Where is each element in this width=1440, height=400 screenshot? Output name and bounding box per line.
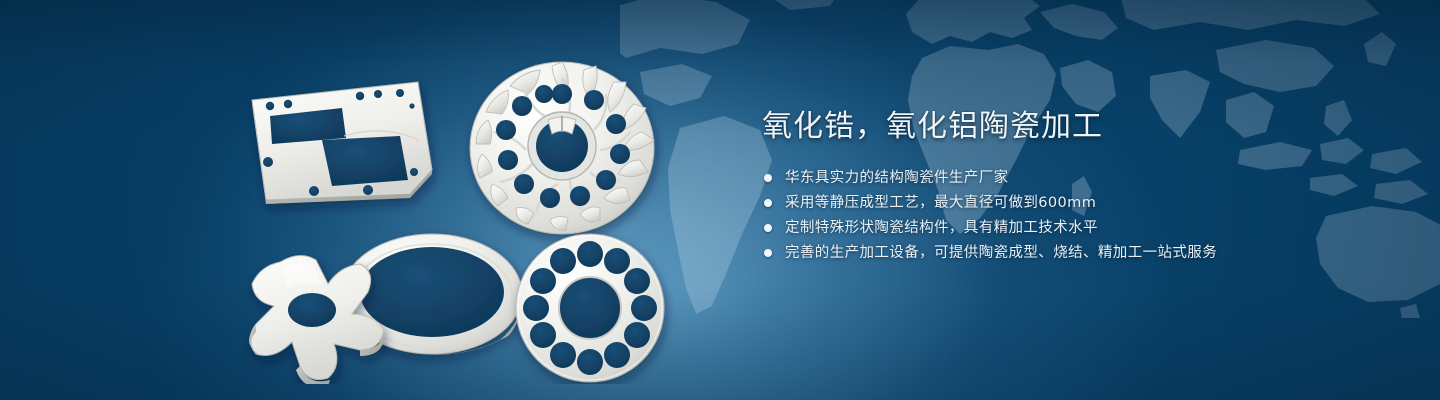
product-photo-cluster bbox=[232, 44, 702, 384]
list-item: 完善的生产加工设备，可提供陶瓷成型、烧结、精加工一站式服务 bbox=[762, 244, 1382, 263]
list-item: 采用等静压成型工艺，最大直径可做到600mm bbox=[762, 194, 1382, 213]
list-item: 定制特殊形状陶瓷结构件，具有精加工技术水平 bbox=[762, 219, 1382, 238]
banner-copy: 氧化锆，氧化铝陶瓷加工 华东具实力的结构陶瓷件生产厂家 采用等静压成型工艺，最大… bbox=[762, 108, 1382, 269]
product-ceramic-cross-part bbox=[249, 255, 384, 384]
list-item: 华东具实力的结构陶瓷件生产厂家 bbox=[762, 169, 1382, 188]
page-title: 氧化锆，氧化铝陶瓷加工 bbox=[762, 108, 1382, 146]
product-ceramic-perforated-disc bbox=[516, 234, 664, 382]
bullet-dot-icon bbox=[764, 174, 772, 182]
hero-banner: 氧化锆，氧化铝陶瓷加工 华东具实力的结构陶瓷件生产厂家 采用等静压成型工艺，最大… bbox=[0, 0, 1440, 400]
feature-list: 华东具实力的结构陶瓷件生产厂家 采用等静压成型工艺，最大直径可做到600mm 定… bbox=[762, 169, 1382, 263]
product-ceramic-plate bbox=[252, 82, 444, 204]
feature-text: 完善的生产加工设备，可提供陶瓷成型、烧结、精加工一站式服务 bbox=[785, 244, 1217, 263]
bullet-dot-icon bbox=[764, 199, 772, 207]
bullet-dot-icon bbox=[764, 224, 772, 232]
bullet-dot-icon bbox=[764, 249, 772, 257]
feature-text: 定制特殊形状陶瓷结构件，具有精加工技术水平 bbox=[785, 219, 1098, 238]
product-ceramic-impeller bbox=[470, 62, 654, 234]
feature-text: 华东具实力的结构陶瓷件生产厂家 bbox=[785, 169, 1009, 188]
feature-text: 采用等静压成型工艺，最大直径可做到600mm bbox=[785, 194, 1096, 213]
